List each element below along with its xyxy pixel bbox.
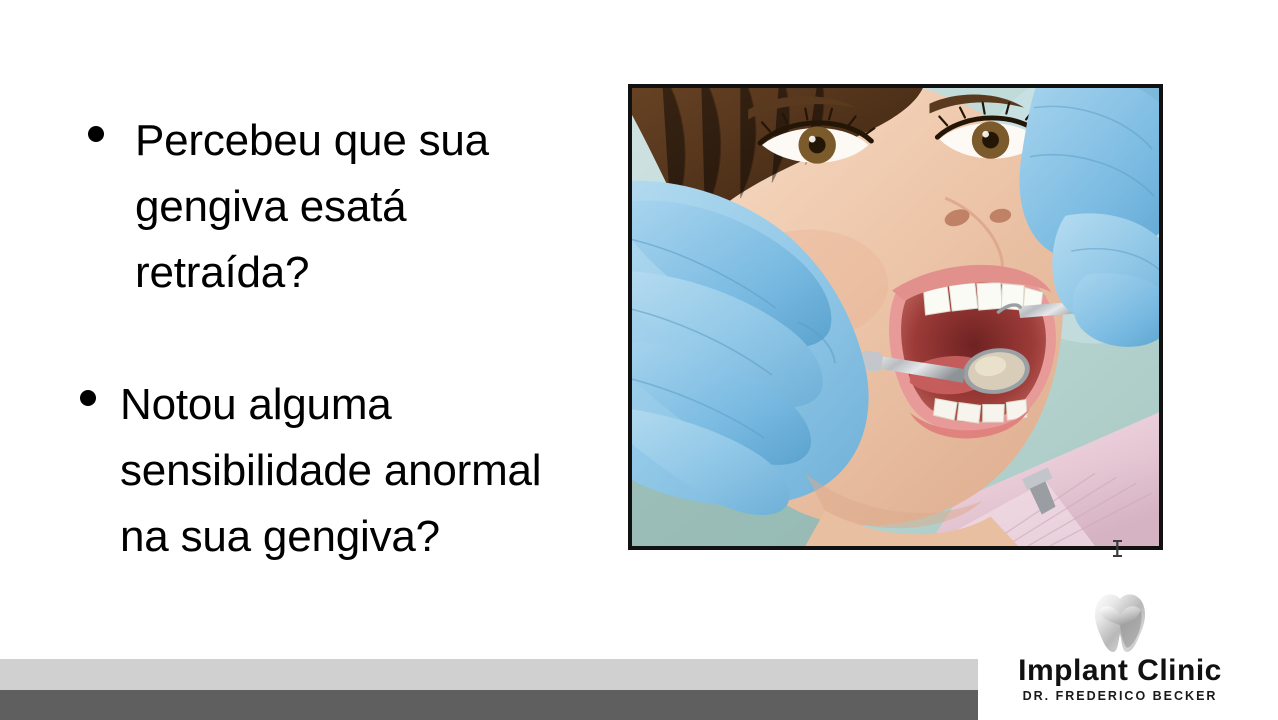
bullet-row: Percebeu que sua gengiva esatá retraída? [88,108,608,306]
logo-subtitle: DR. FREDERICO BECKER [1000,688,1240,704]
bullet-line: sensibilidade anormal [120,438,620,504]
bullet-marker-icon [80,390,96,406]
bullet-line: retraída? [135,240,608,306]
bullet-marker-icon [88,126,104,142]
bullet-text-2: Notou alguma sensibilidade anormal na su… [120,372,620,570]
dental-exam-illustration [632,88,1159,546]
bullet-line: na sua gengiva? [120,504,620,570]
footer-bar-dark [0,690,978,720]
clinic-logo: Implant Clinic DR. FREDERICO BECKER [1000,592,1240,704]
bullet-text-1: Percebeu que sua gengiva esatá retraída? [135,108,608,306]
bullet-line: gengiva esatá [135,174,608,240]
dental-exam-photo [628,84,1163,550]
bullet-item-2: Notou alguma sensibilidade anormal na su… [80,372,620,570]
tooth-icon [1087,592,1153,654]
bullet-row: Notou alguma sensibilidade anormal na su… [80,372,620,570]
presentation-slide: Percebeu que sua gengiva esatá retraída?… [0,0,1278,720]
bullet-item-1: Percebeu que sua gengiva esatá retraída? [88,108,608,306]
logo-name: Implant Clinic [1000,656,1240,686]
bullet-line: Percebeu que sua [135,108,608,174]
bullet-line: Notou alguma [120,372,620,438]
text-ibeam-cursor [1112,539,1123,558]
footer-bar-light [0,659,978,690]
